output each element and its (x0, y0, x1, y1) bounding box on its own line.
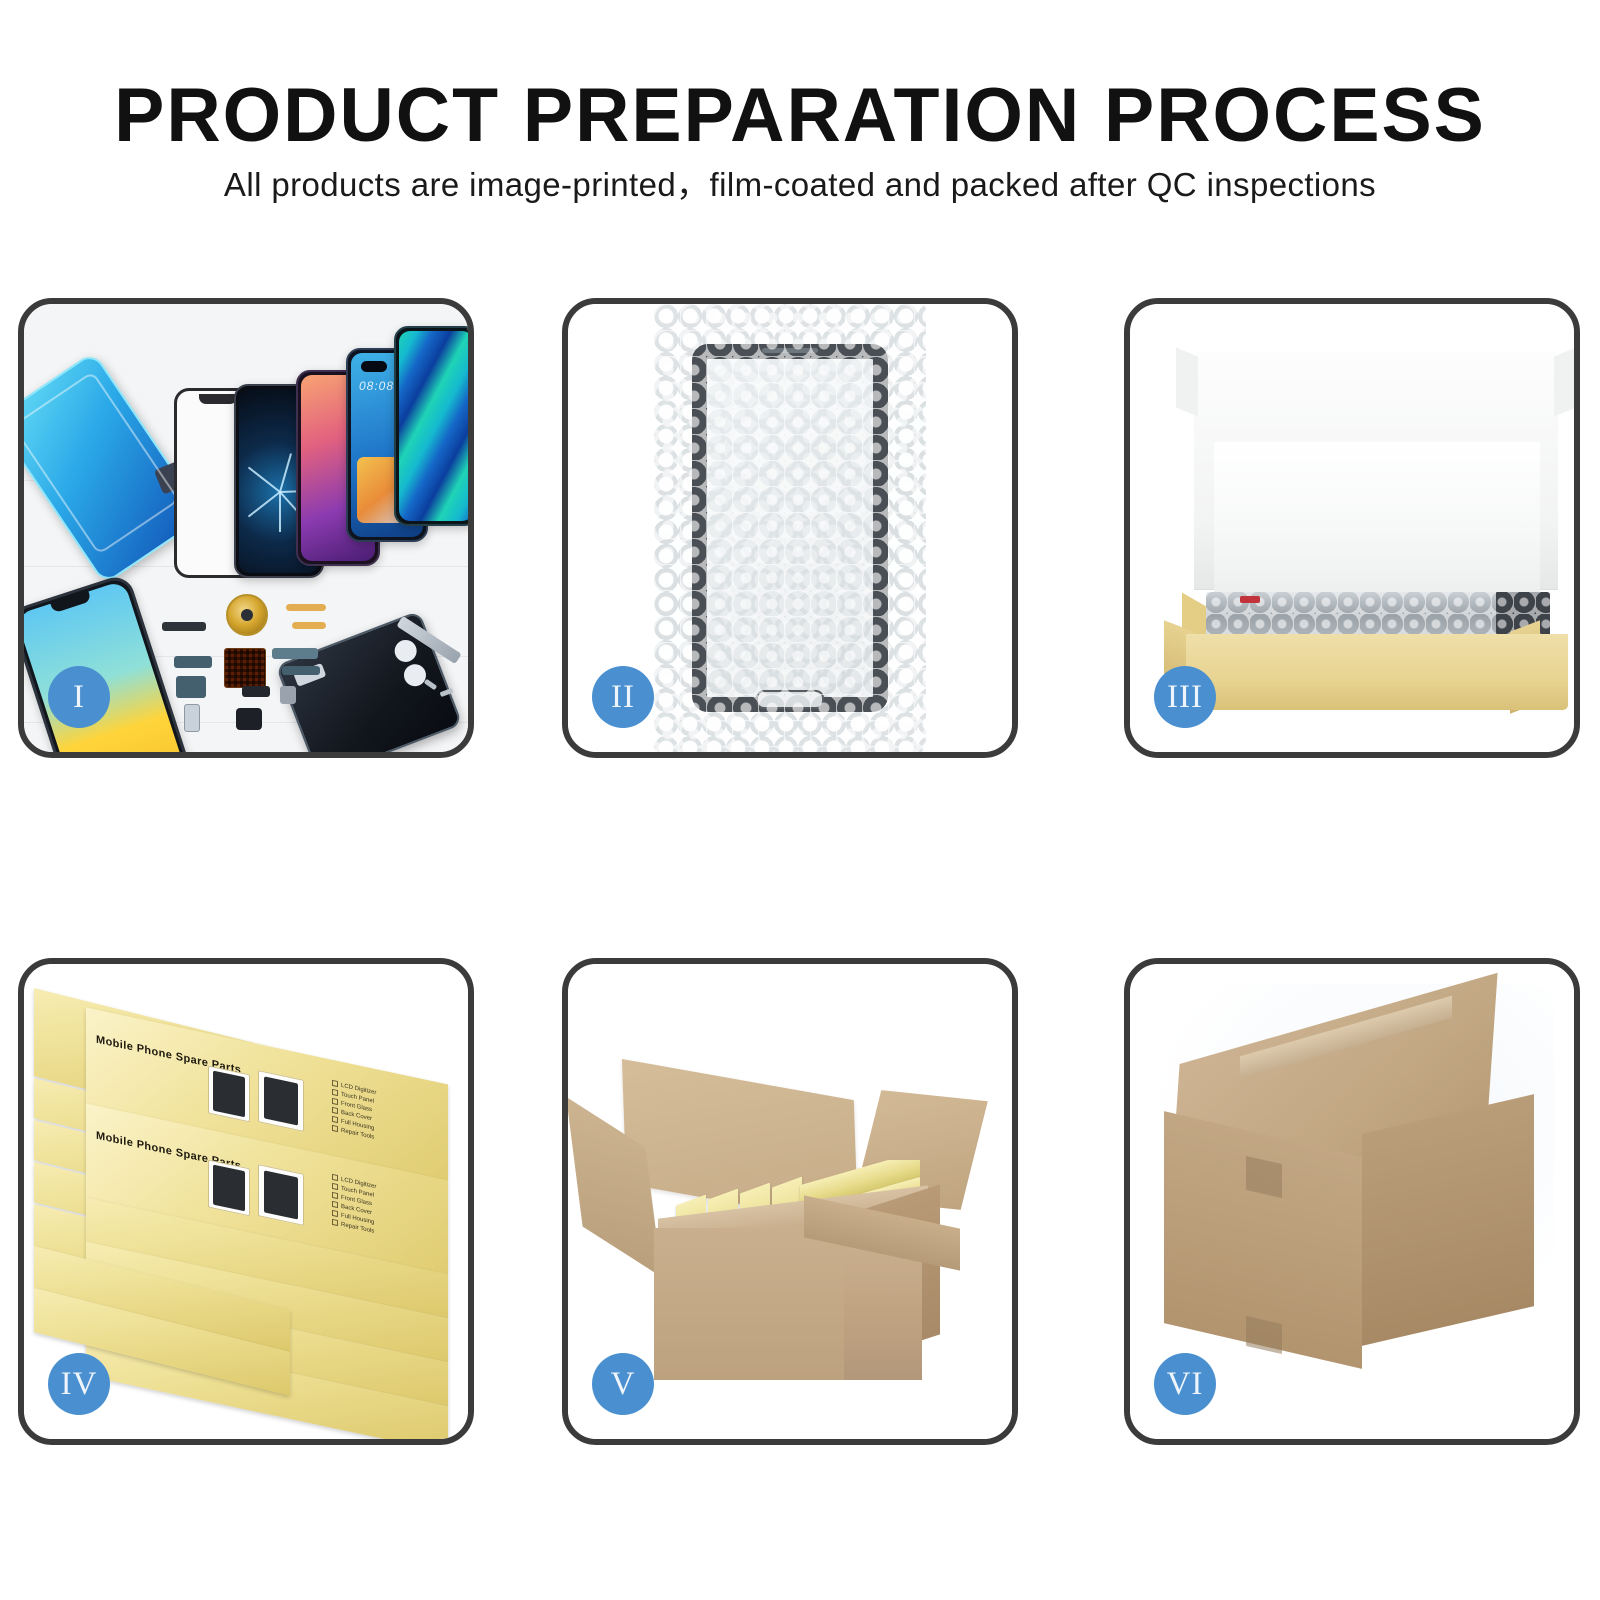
step-badge-2: II (592, 666, 654, 728)
process-step-panel-6[interactable]: VI (1124, 958, 1580, 1445)
earpiece-part (280, 686, 296, 704)
process-step-panel-4[interactable]: Mobile Phone Spare Parts LCD Digitizer T… (18, 958, 474, 1445)
bubble-wrap-sheet (654, 304, 926, 752)
process-step-panel-3[interactable]: III (1124, 298, 1580, 758)
wireless-charging-coil-part (226, 594, 268, 636)
sim-tray-part (184, 704, 200, 732)
antenna-flex-part (272, 648, 318, 659)
mailer-box-base (1186, 634, 1568, 710)
step-badge-1: I (48, 666, 110, 728)
battery-connector-part (242, 686, 270, 697)
white-foam-padding (1214, 442, 1540, 602)
retail-box-window-a2 (258, 1070, 304, 1132)
retail-box-checklist-second: LCD Digitizer Touch Panel Front Glass Ba… (332, 1174, 376, 1237)
step-badge-3: III (1154, 666, 1216, 728)
speaker-mesh-part (162, 622, 206, 631)
teal-wave-phone (394, 326, 468, 526)
retail-box-window-b1 (208, 1159, 250, 1216)
step-badge-4: IV (48, 1353, 110, 1415)
ic-chip-part (224, 648, 266, 688)
process-step-panel-1[interactable]: 08:08 (18, 298, 474, 758)
retail-box-checklist-top: LCD Digitizer Touch Panel Front Glass Ba… (332, 1080, 376, 1143)
process-step-panel-5[interactable]: V (562, 958, 1018, 1445)
retail-box-window-b2 (258, 1164, 304, 1226)
camera-flex-part (174, 656, 212, 668)
phone-clock-label: 08:08 (359, 379, 394, 393)
home-button-flex-part (176, 676, 206, 698)
carton-front-face (654, 1228, 844, 1380)
vibrator-motor-part (236, 708, 262, 730)
bubble-wrap-gloss (654, 304, 926, 752)
power-flex-cable-part (286, 604, 326, 611)
retail-box-window-a1 (208, 1065, 250, 1122)
step-badge-5: V (592, 1353, 654, 1415)
process-step-grid: 08:08 (0, 0, 1600, 1600)
step-badge-6: VI (1154, 1353, 1216, 1415)
screws-part (424, 682, 458, 698)
sealed-carton-side (1362, 1094, 1534, 1346)
sensor-flex-part (282, 666, 320, 675)
process-step-panel-2[interactable]: II (562, 298, 1018, 758)
volume-flex-cable-part (292, 622, 326, 629)
